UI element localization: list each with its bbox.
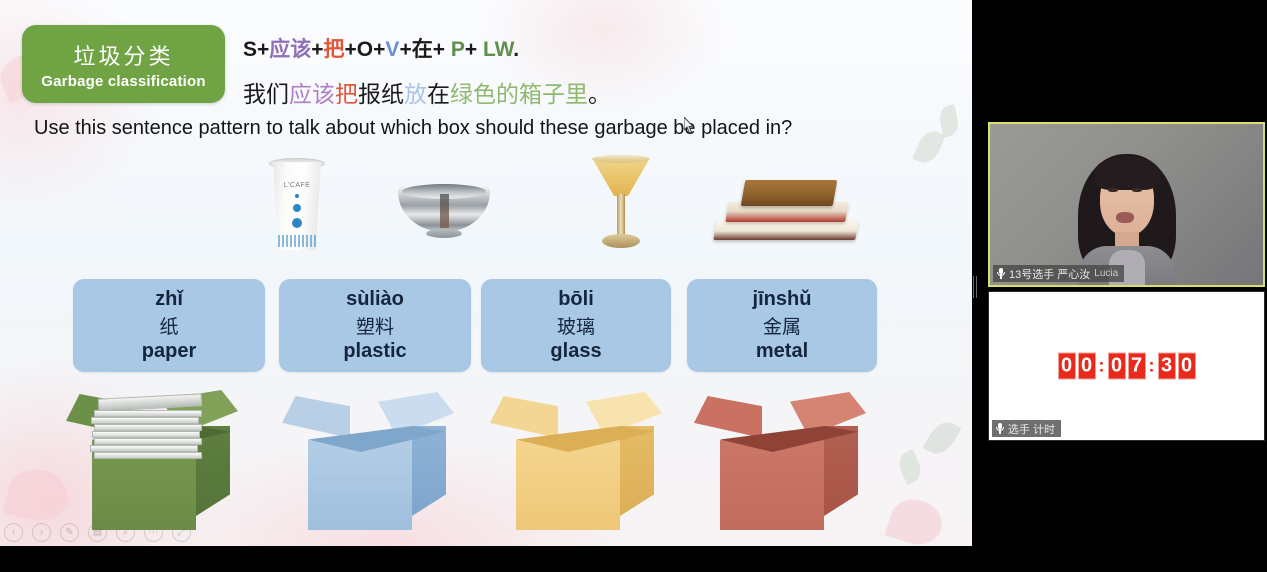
box-flap-left bbox=[490, 396, 558, 438]
blue-box bbox=[282, 382, 460, 532]
glass-goblet-image bbox=[592, 148, 650, 260]
box-front-face bbox=[720, 440, 824, 530]
newspaper-sheet bbox=[94, 452, 202, 459]
badge-title-english: Garbage classification bbox=[41, 73, 205, 90]
box-front-face bbox=[308, 440, 412, 530]
sentence-token: 应该 bbox=[269, 38, 311, 61]
instruction-text: Use this sentence pattern to talk about … bbox=[34, 117, 792, 140]
timer-digit: 0 bbox=[1058, 353, 1076, 380]
vocab-pinyin: bōli bbox=[558, 288, 594, 311]
timer-digit: 7 bbox=[1128, 353, 1146, 380]
box-side-face bbox=[412, 426, 446, 516]
vocab-english: paper bbox=[142, 340, 196, 363]
sentence-token: LW bbox=[483, 38, 513, 61]
zoom-icon[interactable]: ⌕ bbox=[116, 523, 135, 542]
sentence-token: 放 bbox=[404, 82, 427, 108]
participant-name: 13号选手 严心汝 bbox=[1009, 266, 1090, 282]
vocab-hanzi: 纸 bbox=[159, 312, 178, 339]
newspaper-sheet bbox=[94, 438, 202, 445]
red-box bbox=[694, 382, 872, 532]
sentence-token: + bbox=[465, 38, 483, 61]
sentence-token: 把 bbox=[324, 38, 345, 61]
goblet-rim bbox=[592, 155, 650, 163]
timer-digit: 0 bbox=[1108, 353, 1126, 380]
next-slide-icon[interactable]: › bbox=[32, 523, 51, 542]
timer-digit: 0 bbox=[1078, 353, 1096, 380]
participant-video-tile[interactable]: 13号选手 严心汝 Lucia bbox=[988, 122, 1265, 287]
goblet-bowl bbox=[592, 158, 650, 196]
timer-digit: 0 bbox=[1178, 353, 1196, 380]
newspaper-sheet bbox=[98, 393, 203, 411]
sentence-token: S+ bbox=[243, 38, 269, 61]
hair-fringe bbox=[1094, 156, 1160, 190]
slide-toolbar[interactable]: ‹ › ✎ ▤ ⌕ ⋯ ⤢ bbox=[4, 523, 191, 542]
cup-dot bbox=[295, 194, 299, 198]
vocab-hanzi: 塑料 bbox=[356, 312, 394, 339]
cup-dot bbox=[293, 204, 301, 212]
panel-drag-handle[interactable] bbox=[973, 276, 979, 298]
newspaper-stack bbox=[86, 396, 210, 464]
box-flap-left bbox=[282, 396, 350, 438]
object-photo-row: L'CAFE bbox=[0, 148, 972, 266]
vocab-card-plastic: sùliào 塑料 plastic bbox=[279, 279, 471, 372]
timer-separator: : bbox=[1148, 356, 1156, 377]
sentence-token: 应该 bbox=[289, 82, 335, 108]
timer-separator: : bbox=[1098, 356, 1106, 377]
vocab-pinyin: sùliào bbox=[346, 288, 404, 311]
timer-name-chip: 选手 计时 bbox=[992, 420, 1061, 437]
newspaper-sheet bbox=[94, 424, 202, 431]
bowl-foot bbox=[426, 229, 462, 238]
pen-icon[interactable]: ✎ bbox=[60, 523, 79, 542]
expand-icon[interactable]: ⤢ bbox=[172, 523, 191, 542]
sentence-token: 报纸 bbox=[358, 82, 404, 108]
newspaper-sheet bbox=[91, 417, 199, 424]
sentence-token: + bbox=[311, 38, 323, 61]
mouse-cursor bbox=[684, 117, 695, 134]
previous-slide-icon[interactable]: ‹ bbox=[4, 523, 23, 542]
timer-tile[interactable]: 0 0 : 0 7 : 3 0 选手 计时 bbox=[988, 291, 1265, 441]
vocab-hanzi: 玻璃 bbox=[557, 312, 595, 339]
metal-bowl-image bbox=[398, 180, 490, 238]
green-box-with-newspapers bbox=[66, 382, 244, 532]
sentence-token: +在+ bbox=[399, 38, 450, 61]
book-top bbox=[741, 180, 838, 206]
presentation-slide: 垃圾分类 Garbage classification S+应该+把+O+V+在… bbox=[0, 0, 972, 546]
box-front-face bbox=[516, 440, 620, 530]
menu-icon[interactable]: ⋯ bbox=[144, 523, 163, 542]
book-stack-image bbox=[715, 170, 857, 248]
eye-left bbox=[1108, 188, 1118, 192]
microphone-icon bbox=[996, 423, 1004, 434]
sentence-token: . bbox=[513, 38, 519, 61]
bowl-reflection bbox=[440, 194, 449, 228]
vocab-pinyin: zhǐ bbox=[155, 288, 183, 311]
vocab-card-glass: bōli 玻璃 glass bbox=[481, 279, 671, 372]
eye-right bbox=[1132, 188, 1142, 192]
mouth bbox=[1116, 212, 1134, 223]
vocabulary-card-row: zhǐ 纸 paper sùliào 塑料 plastic bōli 玻璃 gl… bbox=[0, 279, 972, 375]
sentence-token: 我们 bbox=[243, 82, 289, 108]
participant-english-name: Lucia bbox=[1094, 268, 1118, 279]
vocab-english: metal bbox=[756, 340, 808, 363]
screen-share-icon[interactable]: ▤ bbox=[88, 523, 107, 542]
vocab-english: plastic bbox=[343, 340, 406, 363]
sentence-token: 。 bbox=[588, 82, 611, 108]
newspaper-sheet bbox=[90, 445, 198, 452]
badge-title-chinese: 垃圾分类 bbox=[73, 39, 173, 71]
sentence-token: +O+ bbox=[345, 38, 386, 61]
box-flap-left bbox=[694, 396, 762, 438]
box-side-face bbox=[620, 426, 654, 516]
sentence-token: 箱子里 bbox=[519, 82, 588, 108]
goblet-stem bbox=[617, 194, 625, 238]
countdown-timer: 0 0 : 0 7 : 3 0 bbox=[1058, 353, 1196, 380]
timer-label: 选手 计时 bbox=[1008, 421, 1055, 437]
goblet-foot bbox=[602, 234, 640, 248]
cup-brand-text: L'CAFE bbox=[268, 182, 326, 189]
vocab-card-paper: zhǐ 纸 paper bbox=[73, 279, 265, 372]
yellow-box bbox=[490, 382, 668, 532]
vocab-pinyin: jīnshǔ bbox=[753, 288, 812, 311]
sentence-token: P bbox=[451, 38, 465, 61]
vocab-card-metal: jīnshǔ 金属 metal bbox=[687, 279, 877, 372]
newspaper-sheet bbox=[94, 410, 202, 417]
screen: 垃圾分类 Garbage classification S+应该+把+O+V+在… bbox=[0, 0, 1267, 572]
participant-name-chip: 13号选手 严心汝 Lucia bbox=[993, 265, 1124, 282]
box-side-face bbox=[824, 426, 858, 516]
sentence-token: 把 bbox=[335, 82, 358, 108]
vocab-english: glass bbox=[550, 340, 601, 363]
cup-base-pattern bbox=[278, 235, 316, 247]
cup-dot bbox=[292, 218, 302, 228]
sentence-pattern-line: S+应该+把+O+V+在+ P+ LW. bbox=[243, 33, 519, 63]
book-bottom bbox=[713, 220, 859, 240]
sentence-token: 绿色的 bbox=[450, 82, 519, 108]
sentence-example-line: 我们应该把报纸放在绿色的箱子里。 bbox=[243, 75, 611, 109]
paper-cup-image: L'CAFE bbox=[268, 156, 326, 251]
sentence-token: 在 bbox=[427, 82, 450, 108]
newspaper-sheet bbox=[92, 431, 200, 438]
cardboard-box-row bbox=[0, 382, 972, 546]
vocab-hanzi: 金属 bbox=[763, 312, 801, 339]
microphone-icon bbox=[997, 268, 1005, 279]
timer-digit: 3 bbox=[1158, 353, 1176, 380]
sentence-token: V bbox=[385, 38, 399, 61]
slide-title-badge: 垃圾分类 Garbage classification bbox=[22, 25, 225, 103]
